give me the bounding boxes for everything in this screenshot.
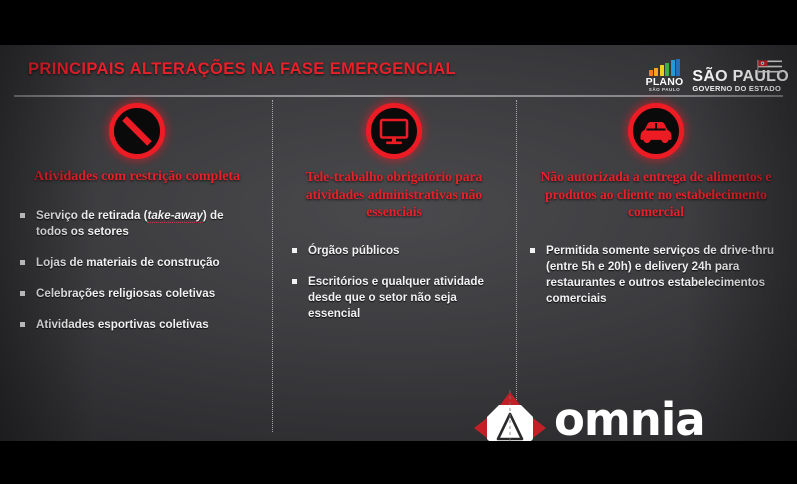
list-item: Serviço de retirada (take-away) de todos… — [20, 208, 258, 240]
plano-sao-paulo-logo: PLANO SÃO PAULO — [646, 59, 684, 93]
sao-paulo-flag-icon — [757, 59, 783, 75]
list-item-label: Celebrações religiosas coletivas — [36, 286, 258, 302]
slide-title: PRINCIPAIS ALTERAÇÕES NA FASE EMERGENCIA… — [28, 60, 498, 79]
column-entrega-nao-autorizada: Não autorizada a entrega de alimentos e … — [520, 103, 792, 322]
list-item-label: Órgãos públicos — [308, 243, 502, 259]
column-3-bullets: Permitida somente serviços de drive-thru… — [520, 243, 792, 307]
list-item-label: Serviço de retirada (take-away) de todos… — [36, 208, 258, 240]
column-2-icon-wrap — [276, 103, 512, 159]
list-item: Permitida somente serviços de drive-thru… — [530, 243, 782, 307]
presentation-slide: PRINCIPAIS ALTERAÇÕES NA FASE EMERGENCIA… — [0, 45, 797, 441]
no-entry-icon — [109, 103, 165, 159]
plano-logo-name: PLANO — [646, 77, 684, 87]
list-item-label: Permitida somente serviços de drive-thru… — [546, 243, 782, 307]
column-divider-2 — [516, 100, 517, 432]
column-tele-trabalho: Tele-trabalho obrigatório para atividade… — [276, 103, 512, 337]
omnia-diamond-logo — [472, 390, 548, 441]
column-1-icon-wrap — [6, 103, 268, 159]
list-item: Escritórios e qualquer atividade desde q… — [292, 274, 502, 322]
bullet-marker-icon — [292, 248, 297, 253]
header-logos: PLANO SÃO PAULO — [646, 51, 789, 93]
column-restricoes-completas: Atividades com restrição completa Serviç… — [6, 103, 268, 348]
list-item: Órgãos públicos — [292, 243, 502, 259]
plano-bars-icon — [649, 59, 681, 76]
plano-logo-sub: SÃO PAULO — [649, 87, 680, 93]
list-item: Lojas de materiais de construção — [20, 255, 258, 271]
omnia-brand: omnia — [554, 398, 786, 442]
list-item: Atividades esportivas coletivas — [20, 317, 258, 333]
column-1-bullets: Serviço de retirada (take-away) de todos… — [6, 208, 268, 333]
bullet-marker-icon — [20, 322, 25, 327]
car-icon — [628, 103, 684, 159]
column-1-heading: Atividades com restrição completa — [6, 168, 268, 186]
column-3-heading: Não autorizada a entrega de alimentos e … — [520, 168, 792, 221]
sp-logo-sub: GOVERNO DO ESTADO — [692, 84, 781, 93]
monitor-icon — [366, 103, 422, 159]
column-2-bullets: Órgãos públicos Escritórios e qualquer a… — [276, 243, 512, 322]
letterbox-bottom-bar — [0, 441, 797, 484]
title-divider-rule — [14, 95, 783, 97]
bullet-marker-icon — [20, 291, 25, 296]
bullet-marker-icon — [530, 248, 535, 253]
list-item-label: Escritórios e qualquer atividade desde q… — [308, 274, 502, 322]
list-item-label: Atividades esportivas coletivas — [36, 317, 258, 333]
slide-viewer: PRINCIPAIS ALTERAÇÕES NA FASE EMERGENCIA… — [0, 0, 797, 484]
column-2-heading: Tele-trabalho obrigatório para atividade… — [276, 168, 512, 221]
column-3-icon-wrap — [520, 103, 792, 159]
bullet-marker-icon — [20, 213, 25, 218]
bullet-marker-icon — [20, 260, 25, 265]
omnia-watermark: omnia LIDERANÇA EM RH E SISTEMAS DE GEST… — [472, 385, 792, 441]
sao-paulo-government-logo: SÃO PAULO GOVERNO DO ESTADO — [692, 64, 789, 93]
column-divider-1 — [272, 100, 273, 432]
bullet-marker-icon — [292, 279, 297, 284]
list-item: Celebrações religiosas coletivas — [20, 286, 258, 302]
omnia-text-block: omnia LIDERANÇA EM RH E SISTEMAS DE GEST… — [554, 398, 786, 442]
list-item-label: Lojas de materiais de construção — [36, 255, 258, 271]
letterbox-top-bar — [0, 0, 797, 45]
